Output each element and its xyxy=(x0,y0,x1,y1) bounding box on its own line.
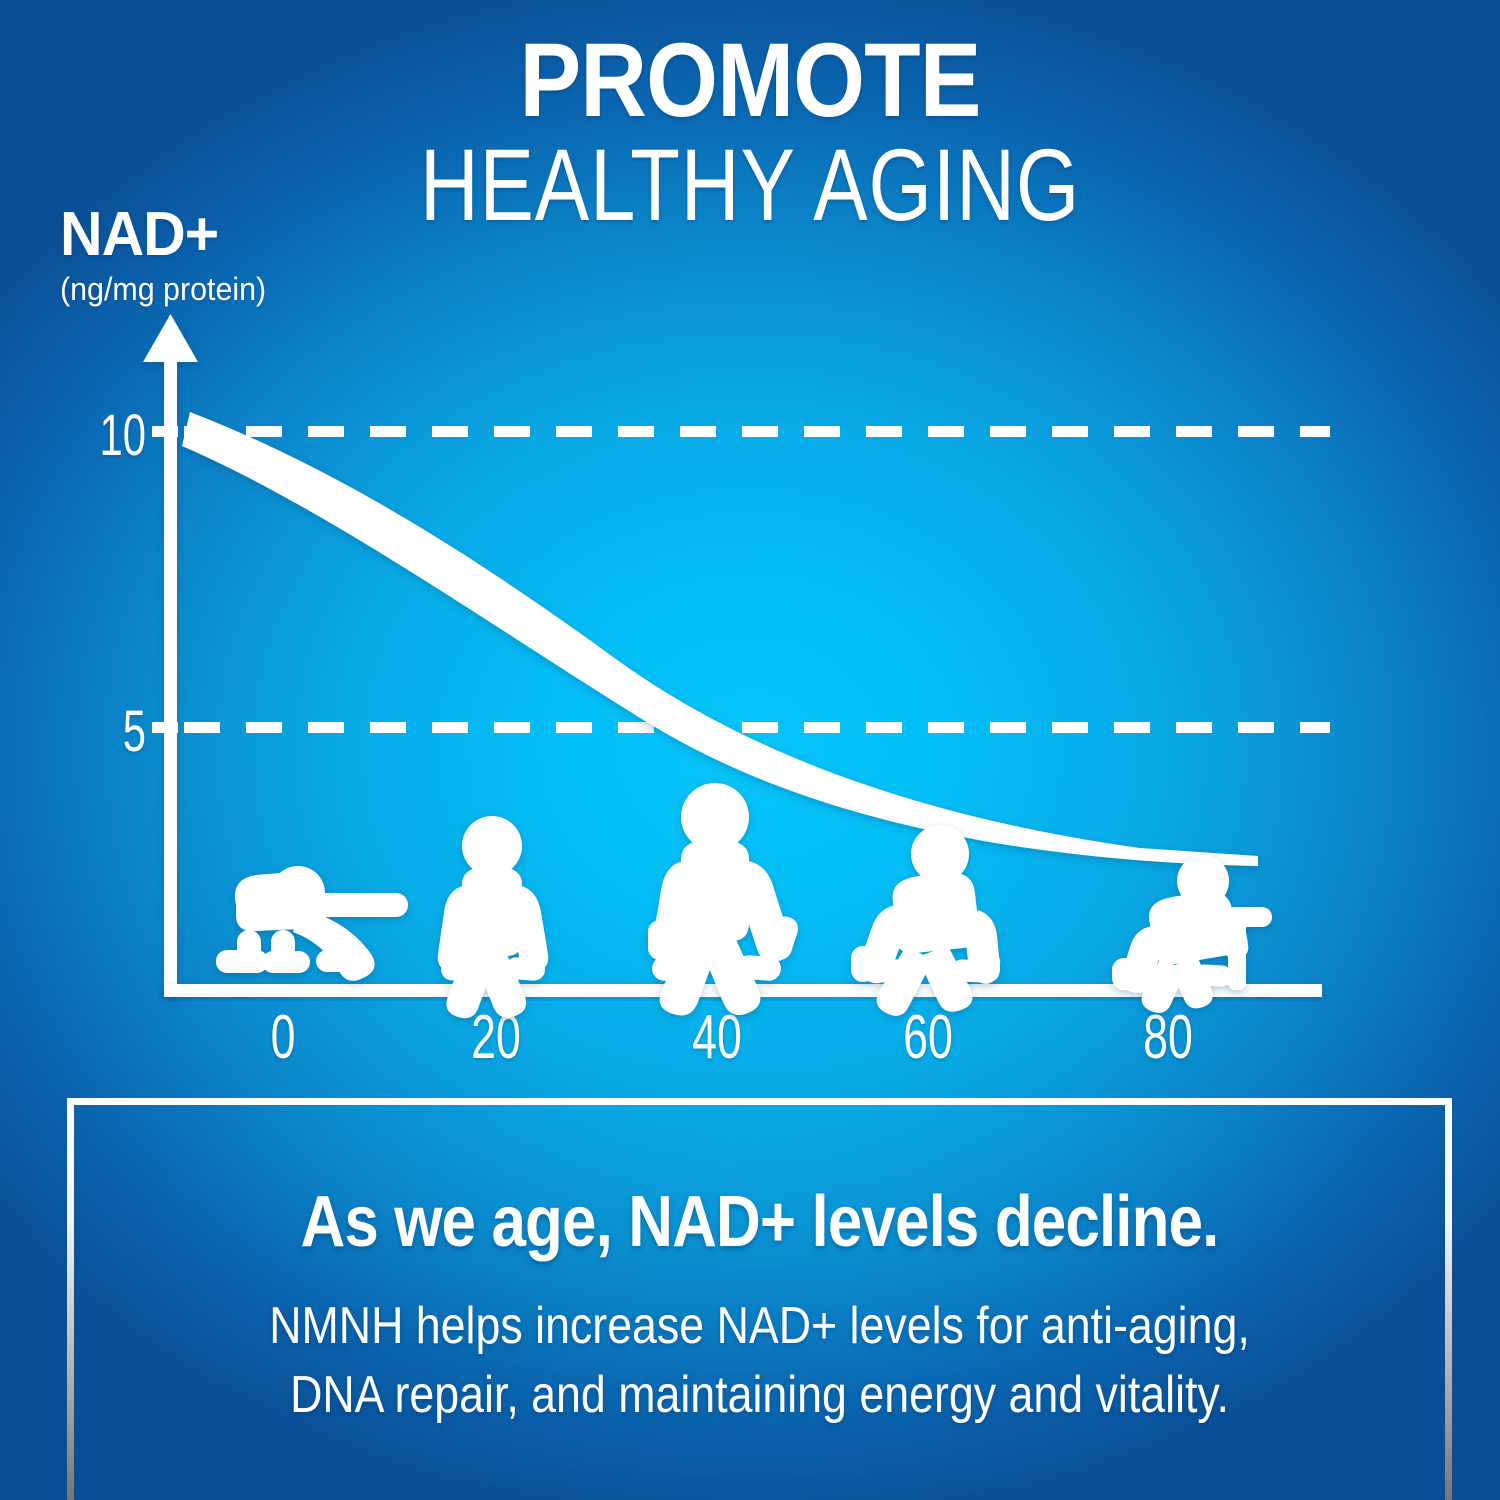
y-axis-arrow-icon xyxy=(143,314,198,362)
x-tick-label-40: 40 xyxy=(692,1002,742,1073)
y-axis-units: (ng/mg protein) xyxy=(60,270,266,308)
callout-body-line-2: DNA repair, and maintaining energy and v… xyxy=(170,1361,1349,1430)
y-tick-label-10: 10 xyxy=(67,402,146,469)
y-axis xyxy=(143,314,198,997)
callout-box: As we age, NAD+ levels decline. NMNH hel… xyxy=(67,1098,1452,1500)
x-tick-label-20: 20 xyxy=(471,1002,521,1073)
callout-body-line-1: NMNH helps increase NAD+ levels for anti… xyxy=(170,1292,1349,1361)
page-title-primary: PROMOTE xyxy=(90,24,1410,137)
page-title-secondary: HEALTHY AGING xyxy=(150,133,1350,237)
y-axis-title-group: NAD+ (ng/mg protein) xyxy=(60,204,277,308)
callout-headline: As we age, NAD+ levels decline. xyxy=(170,1183,1349,1262)
older-adult-walking-figure xyxy=(851,825,1003,1016)
nad-decline-curve xyxy=(182,412,1258,866)
y-tick-label-5: 5 xyxy=(67,698,146,765)
x-tick-label-80: 80 xyxy=(1143,1002,1193,1073)
x-tick-label-60: 60 xyxy=(903,1002,953,1073)
x-axis xyxy=(164,984,1322,997)
y-axis-title: NAD+ xyxy=(60,204,266,266)
adult-walking-figure xyxy=(648,783,801,1016)
crawling-baby-figure xyxy=(216,866,408,981)
child-walking-figure xyxy=(438,816,548,1018)
infographic-root: PROMOTE HEALTHY AGING NAD+ (ng/mg protei… xyxy=(0,0,1500,1500)
y-tick-marks xyxy=(152,426,178,733)
x-tick-label-0: 0 xyxy=(271,1002,296,1073)
elderly-with-cane-figure xyxy=(1112,855,1272,1013)
callout-content: As we age, NAD+ levels decline. NMNH hel… xyxy=(74,1105,1445,1429)
